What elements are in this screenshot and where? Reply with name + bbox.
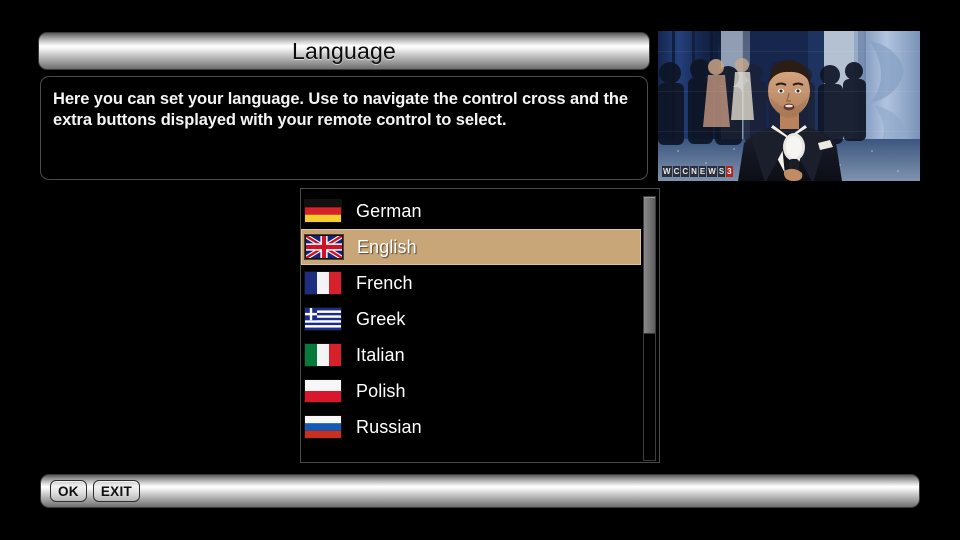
list-scrollbar-track[interactable]: [643, 196, 656, 461]
list-item-russian[interactable]: Russian: [301, 409, 641, 445]
list-scrollbar-thumb[interactable]: [644, 197, 655, 334]
list-item-label: Russian: [356, 417, 422, 438]
bug-part-6: S: [718, 166, 725, 177]
bug-part-2: C: [681, 166, 689, 177]
list-item-german[interactable]: German: [301, 193, 641, 229]
video-preview[interactable]: W C C N E W S 3: [658, 31, 920, 181]
osd-screen: Language Here you can set your language.…: [0, 0, 960, 540]
flag-de-icon: [304, 199, 342, 223]
exit-button[interactable]: EXIT: [93, 480, 140, 502]
flag-it-icon: [304, 343, 342, 367]
list-item-label: Polish: [356, 381, 406, 402]
list-item-french[interactable]: French: [301, 265, 641, 301]
list-item-italian[interactable]: Italian: [301, 337, 641, 373]
channel-logo-bug: W C C N E W S 3: [662, 165, 733, 178]
bug-part-4: E: [699, 166, 706, 177]
ok-button[interactable]: OK: [50, 480, 87, 502]
list-item-label: German: [356, 201, 422, 222]
list-item-label: English: [357, 237, 417, 258]
page-title: Language: [292, 38, 396, 65]
flag-ru-icon: [304, 415, 342, 439]
bug-part-3: N: [690, 166, 698, 177]
language-list-panel: German English: [300, 188, 660, 463]
video-preview-frame: [658, 31, 920, 181]
list-item-label: Italian: [356, 345, 405, 366]
bug-part-7: 3: [726, 166, 732, 177]
list-item-greek[interactable]: Greek: [301, 301, 641, 337]
description-panel: Here you can set your language. Use to n…: [40, 76, 648, 180]
list-item-english[interactable]: English: [301, 229, 641, 265]
flag-gr-icon: [304, 307, 342, 331]
list-item-label: French: [356, 273, 413, 294]
list-item-polish[interactable]: Polish: [301, 373, 641, 409]
list-item-label: Greek: [356, 309, 406, 330]
flag-pl-icon: [304, 379, 342, 403]
description-text: Here you can set your language. Use to n…: [53, 89, 633, 131]
bug-part-0: W: [662, 166, 672, 177]
flag-fr-icon: [304, 271, 342, 295]
title-bar: Language: [38, 32, 650, 70]
bug-part-5: W: [707, 166, 717, 177]
button-bar: OK EXIT: [40, 474, 920, 508]
bug-part-1: C: [673, 166, 681, 177]
flag-gb-icon: [305, 235, 343, 259]
